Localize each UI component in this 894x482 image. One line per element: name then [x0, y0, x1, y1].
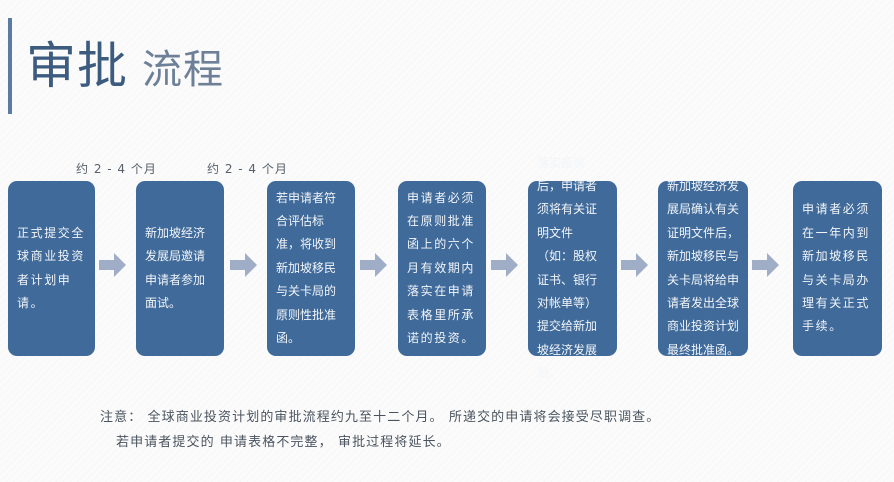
- flow-step-7-label: 申请者必须在一年内到新加坡移民与关卡局办理有关正式手续。: [802, 198, 873, 338]
- flow-step-1: 正式提交全球商业投资者计划申请。: [8, 181, 95, 356]
- footnote: 注意： 全球商业投资计划的审批流程约九至十二个月。 所递交的申请将会接受尽职调查…: [100, 405, 800, 456]
- page-title: 审批 流程: [8, 18, 224, 114]
- flow-step-5: 落实投资后，申请者须将有关证明文件（如：股权证书、银行对帐单等）提交给新加坡经济…: [528, 181, 617, 356]
- flow-step-6-label: 新加坡经济发展局确认有关证明文件后，新加坡移民与关卡局将给申请者发出全球商业投资…: [667, 175, 739, 362]
- title-sub: 流程: [142, 50, 224, 90]
- arrow-right-icon: [99, 253, 126, 277]
- flow-step-6: 新加坡经济发展局确认有关证明文件后，新加坡移民与关卡局将给申请者发出全球商业投资…: [658, 181, 748, 356]
- flow-step-2: 新加坡经济发展局邀请申请者参加面试。: [136, 181, 224, 356]
- arrow-right-icon: [491, 253, 518, 277]
- footnote-line-1: 注意： 全球商业投资计划的审批流程约九至十二个月。 所递交的申请将会接受尽职调查…: [100, 405, 800, 430]
- flow-step-3: 若申请者符合评估标准，将收到新加坡移民与关卡局的原则性批准函。: [267, 181, 355, 356]
- flow-step-1-label: 正式提交全球商业投资者计划申请。: [17, 222, 86, 316]
- title-accent-bar: [8, 18, 12, 114]
- arrow-right-icon: [752, 253, 779, 277]
- arrow-right-icon: [230, 253, 257, 277]
- flow-step-4: 申请者必须在原则批准函上的六个月有效期内落实在申请表格里所承诺的投资。: [398, 181, 486, 356]
- flow-step-3-label: 若申请者符合评估标准，将收到新加坡移民与关卡局的原则性批准函。: [276, 187, 346, 351]
- arrow-right-icon: [360, 253, 387, 277]
- arrow-right-icon: [621, 253, 648, 277]
- footnote-line-2: 若申请者提交的 申请表格不完整， 审批过程将延长。: [116, 430, 800, 455]
- title-main: 审批: [26, 41, 128, 91]
- flow-step-7: 申请者必须在一年内到新加坡移民与关卡局办理有关正式手续。: [793, 181, 882, 356]
- title-text-group: 审批 流程: [26, 41, 224, 91]
- process-flow: 正式提交全球商业投资者计划申请。 新加坡经济发展局邀请申请者参加面试。 若申请者…: [0, 181, 894, 356]
- flow-step-4-label: 申请者必须在原则批准函上的六个月有效期内落实在申请表格里所承诺的投资。: [407, 187, 477, 351]
- duration-label-1: 约 2 - 4 个月: [76, 160, 157, 177]
- flow-step-5-label: 落实投资后，申请者须将有关证明文件（如：股权证书、银行对帐单等）提交给新加坡经济…: [537, 152, 608, 386]
- flow-step-2-label: 新加坡经济发展局邀请申请者参加面试。: [145, 222, 215, 316]
- duration-label-2: 约 2 - 4 个月: [207, 160, 288, 177]
